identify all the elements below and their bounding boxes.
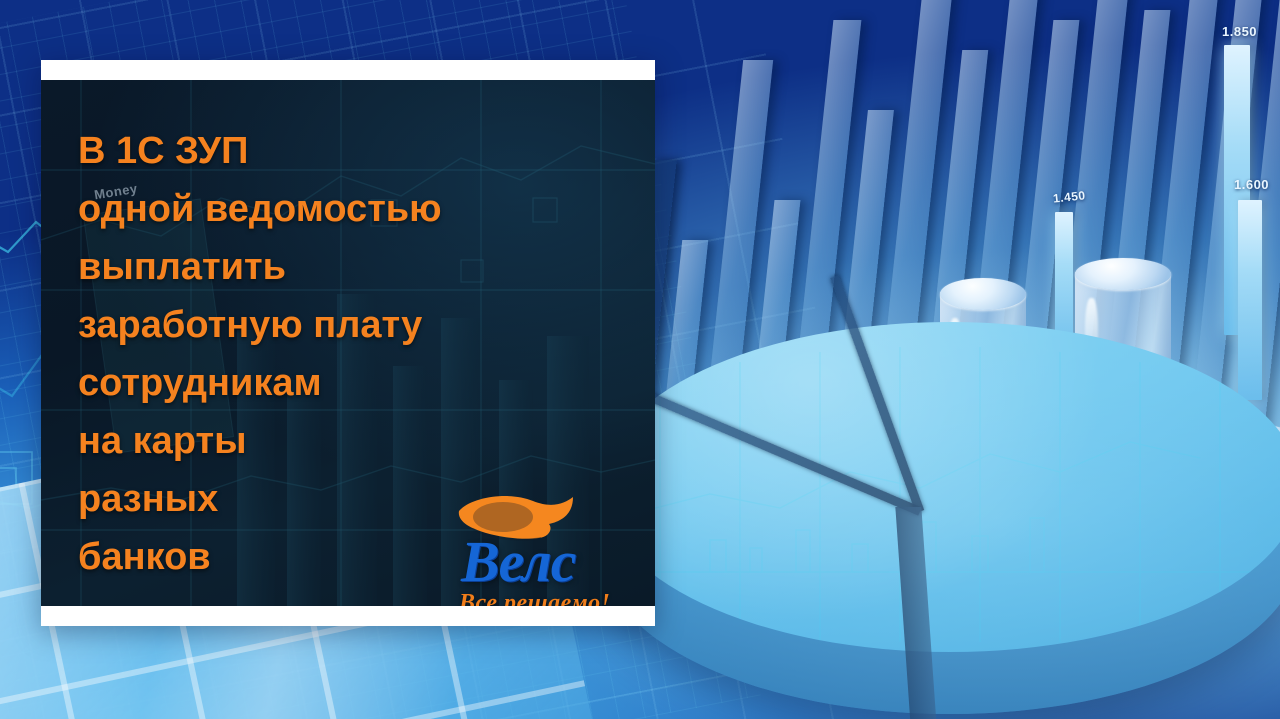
headline-card-inner: Money В 1С ЗУП одной ведомостью выплатит… xyxy=(41,80,655,606)
logo-tagline: Все решаемо! xyxy=(459,590,610,606)
pie-surface-chart-etching-icon xyxy=(600,322,1280,652)
vels-logo[interactable]: Велс Все решаемо! xyxy=(439,495,637,606)
banner-stage: 1.850 1.600 1.450 xyxy=(0,0,1280,719)
headline-line-2: одной ведомостью xyxy=(78,180,641,238)
pie-top-surface xyxy=(600,322,1280,652)
headline-line-1: В 1С ЗУП xyxy=(78,122,641,180)
headline-card: Money В 1С ЗУП одной ведомостью выплатит… xyxy=(41,60,655,626)
headline-line-6: на карты xyxy=(78,412,641,470)
value-label-1600: 1.600 xyxy=(1234,177,1269,192)
headline-line-5: сотрудникам xyxy=(78,354,641,412)
background-3d-pie-chart xyxy=(600,322,1280,719)
value-label-1850: 1.850 xyxy=(1222,24,1257,39)
logo-wordmark: Велс xyxy=(461,533,576,591)
headline-line-3: выплатить xyxy=(78,238,641,296)
headline-line-4: заработную плату xyxy=(78,296,641,354)
